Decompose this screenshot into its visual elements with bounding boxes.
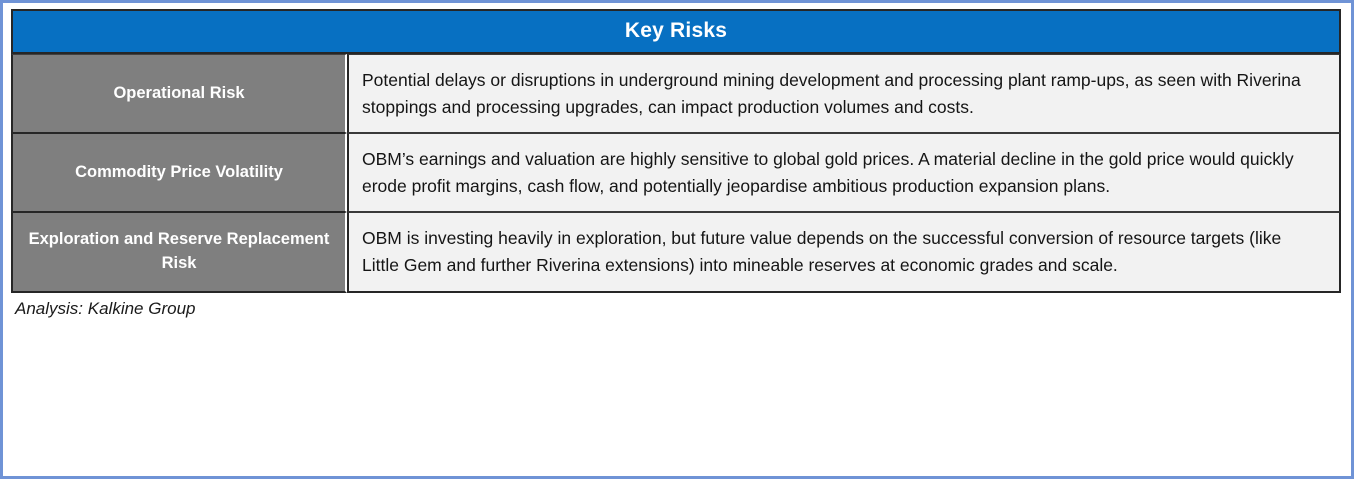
- risk-label-operational-risk: Operational Risk: [11, 54, 347, 133]
- table-header: Key Risks: [11, 9, 1341, 54]
- table-caption: Analysis: Kalkine Group: [15, 299, 1343, 319]
- table-row: Exploration and Reserve Replacement Risk…: [11, 212, 1341, 292]
- key-risks-table: Key Risks Operational Risk Potential del…: [11, 9, 1341, 293]
- key-risks-figure: Key Risks Operational Risk Potential del…: [0, 0, 1354, 479]
- risk-description-commodity-price-volatility: OBM’s earnings and valuation are highly …: [347, 133, 1341, 212]
- risk-label-commodity-price-volatility: Commodity Price Volatility: [11, 133, 347, 212]
- risk-description-exploration-and-reserve-replacement-risk: OBM is investing heavily in exploration,…: [347, 212, 1341, 292]
- table-title: Key Risks: [11, 9, 1341, 54]
- table-header-row: Key Risks: [11, 9, 1341, 54]
- table-row: Commodity Price Volatility OBM’s earning…: [11, 133, 1341, 212]
- table-row: Operational Risk Potential delays or dis…: [11, 54, 1341, 133]
- risk-description-operational-risk: Potential delays or disruptions in under…: [347, 54, 1341, 133]
- risk-label-exploration-and-reserve-replacement-risk: Exploration and Reserve Replacement Risk: [11, 212, 347, 292]
- table-body: Operational Risk Potential delays or dis…: [11, 54, 1341, 293]
